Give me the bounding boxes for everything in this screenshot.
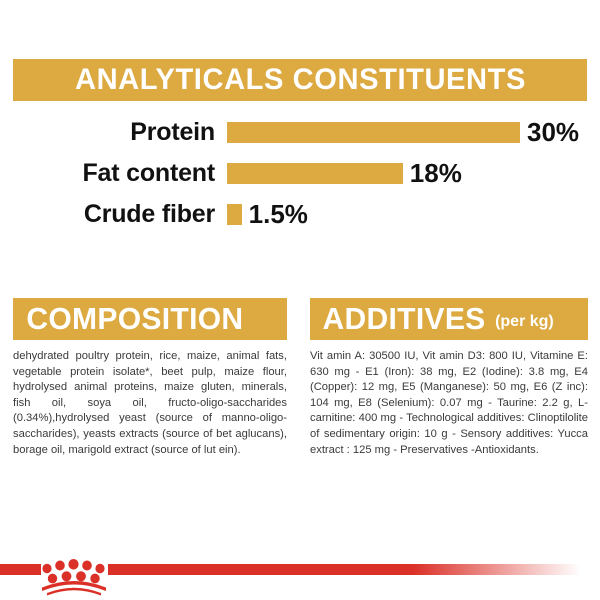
- composition-header: COMPOSITION: [13, 298, 287, 340]
- bar-fill-crude-fiber: [227, 204, 242, 225]
- bar-row-fat-content: Fat content 18%: [0, 154, 600, 192]
- constituents-bar-chart: Protein 30% Fat content 18% Crude fiber …: [0, 113, 600, 236]
- bar-fill-fat-content: [227, 163, 403, 184]
- footer-rule-left: [0, 564, 41, 575]
- footer-rule-right: [108, 564, 600, 575]
- bar-fill-protein: [227, 122, 520, 143]
- footer: [0, 556, 600, 600]
- composition-panel: COMPOSITION dehydrated poultry protein, …: [0, 298, 300, 458]
- info-panels: COMPOSITION dehydrated poultry protein, …: [0, 298, 600, 458]
- additives-subtitle: (per kg): [495, 313, 554, 331]
- bar-label-fat-content: Fat content: [0, 159, 215, 188]
- bar-label-crude-fiber: Crude fiber: [0, 200, 215, 229]
- bar-row-protein: Protein 30%: [0, 113, 600, 151]
- bar-track-protein: 30%: [215, 117, 600, 148]
- bar-value-fat-content: 18%: [410, 158, 462, 189]
- analyticals-constituents-title: ANALYTICALS CONSTITUENTS: [74, 63, 525, 97]
- bar-track-fat-content: 18%: [215, 158, 600, 189]
- additives-title: ADDITIVES: [323, 301, 486, 337]
- bar-value-crude-fiber: 1.5%: [249, 199, 308, 230]
- bar-value-protein: 30%: [527, 117, 579, 148]
- bar-row-crude-fiber: Crude fiber 1.5%: [0, 195, 600, 233]
- additives-body-text: Vit amin A: 30500 IU, Vit amin D3: 800 I…: [310, 349, 588, 458]
- additives-panel: ADDITIVES (per kg) Vit amin A: 30500 IU,…: [300, 298, 600, 458]
- bar-label-protein: Protein: [0, 118, 215, 147]
- additives-header: ADDITIVES (per kg): [310, 298, 588, 340]
- bar-track-crude-fiber: 1.5%: [215, 199, 600, 230]
- royal-crown-icon: [38, 556, 110, 596]
- composition-body-text: dehydrated poultry protein, rice, maize,…: [13, 349, 287, 458]
- analyticals-constituents-header: ANALYTICALS CONSTITUENTS: [13, 59, 587, 101]
- composition-title: COMPOSITION: [26, 301, 243, 337]
